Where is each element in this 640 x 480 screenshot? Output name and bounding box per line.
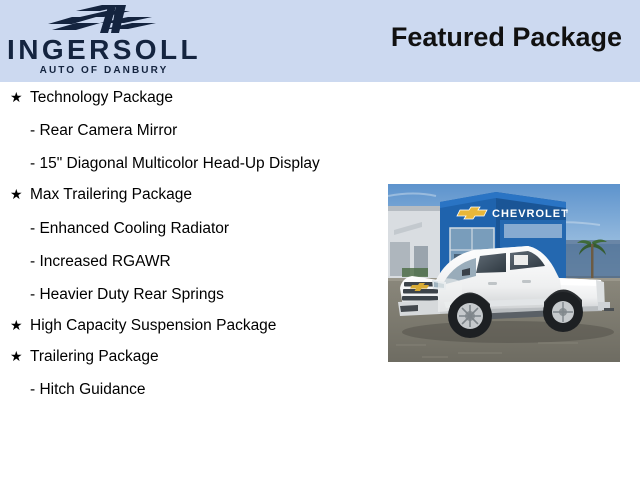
header-band: INGERSOLL AUTO OF DANBURY Featured Packa…	[0, 0, 640, 82]
star-bullet-icon: ★	[10, 88, 23, 106]
feature-item: ★Max Trailering Package	[0, 185, 380, 205]
feature-subitem: - Rear Camera Mirror	[0, 121, 380, 141]
feature-label: Technology Package	[30, 89, 173, 106]
feature-label: Trailering Package	[30, 348, 159, 365]
feature-subitem: - Enhanced Cooling Radiator	[0, 219, 380, 239]
feature-label: - Rear Camera Mirror	[30, 122, 177, 139]
feature-label: Max Trailering Package	[30, 186, 192, 203]
vehicle-photo: CHEVROLET	[388, 184, 620, 362]
feature-label: - Enhanced Cooling Radiator	[30, 220, 229, 237]
feature-label: High Capacity Suspension Package	[30, 317, 276, 334]
feature-subitem: - Increased RGAWR	[0, 252, 380, 272]
feature-label: - Increased RGAWR	[30, 253, 171, 270]
feature-item: ★High Capacity Suspension Package	[0, 316, 380, 336]
feature-list: ★Technology Package- Rear Camera Mirror-…	[0, 88, 380, 400]
ingersoll-wing-flag-emblem	[46, 3, 166, 35]
logo-wordmark: INGERSOLL	[0, 36, 208, 64]
feature-item: ★Technology Package	[0, 88, 380, 108]
star-bullet-icon: ★	[10, 316, 23, 334]
logo-tagline: AUTO OF DANBURY	[0, 66, 208, 76]
feature-item: ★Trailering Package	[0, 347, 380, 367]
feature-subitem: - Heavier Duty Rear Springs	[0, 285, 380, 305]
star-bullet-icon: ★	[10, 185, 23, 203]
feature-subitem: - 15" Diagonal Multicolor Head-Up Displa…	[0, 154, 380, 174]
feature-label: - 15" Diagonal Multicolor Head-Up Displa…	[30, 155, 320, 172]
feature-subitem: - Hitch Guidance	[0, 380, 380, 400]
star-bullet-icon: ★	[10, 347, 23, 365]
svg-text:CHEVROLET: CHEVROLET	[492, 208, 569, 220]
dealership-logo[interactable]: INGERSOLL AUTO OF DANBURY	[0, 0, 208, 82]
page-title: Featured Package	[391, 22, 622, 53]
feature-label: - Heavier Duty Rear Springs	[30, 286, 224, 303]
feature-label: - Hitch Guidance	[30, 381, 145, 398]
